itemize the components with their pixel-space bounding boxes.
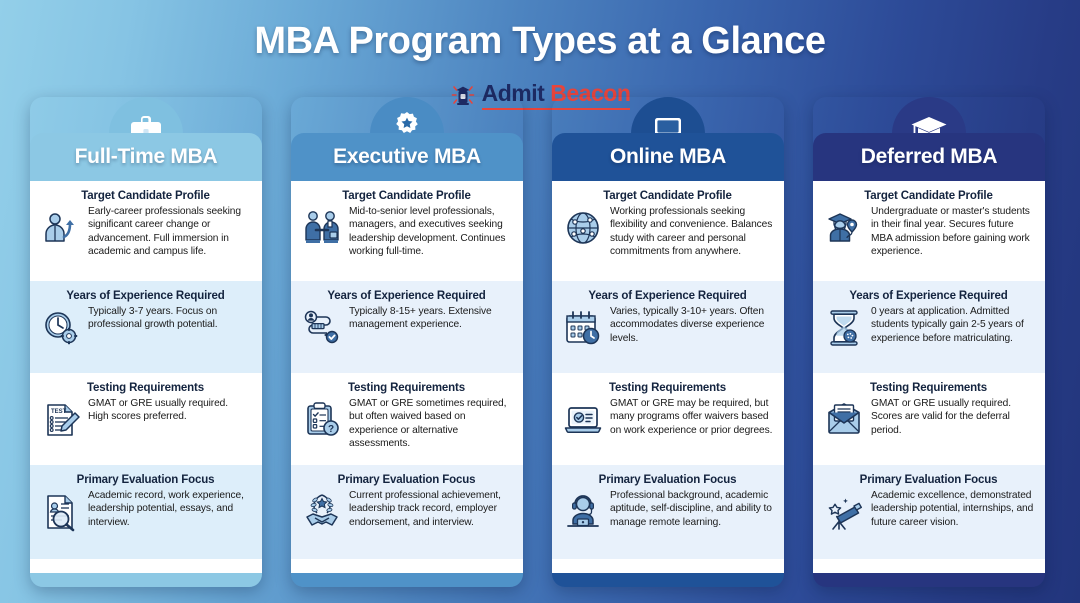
row-body: Mid-to-senior level professionals, manag… xyxy=(301,205,512,258)
row-title: Target Candidate Profile xyxy=(823,190,1034,202)
row-body: Varies, typically 3-10+ years. Often acc… xyxy=(562,305,773,349)
row-title: Years of Experience Required xyxy=(40,290,251,302)
row-body: ?GMAT or GRE sometimes required, but oft… xyxy=(301,397,512,450)
row-body: GMAT or GRE may be required, but many pr… xyxy=(562,397,773,441)
row-title: Testing Requirements xyxy=(823,382,1034,394)
row-text: Professional background, academic aptitu… xyxy=(610,489,773,529)
card-row: Years of Experience RequiredVaries, typi… xyxy=(552,281,784,373)
card-footer xyxy=(552,573,784,587)
graduate-student-pin-icon xyxy=(823,207,865,249)
row-title: Testing Requirements xyxy=(301,382,512,394)
card-footer xyxy=(813,573,1045,587)
card-body: Target Candidate ProfileMid-to-senior le… xyxy=(291,181,523,573)
row-text: Typically 8-15+ years. Extensive managem… xyxy=(349,305,512,332)
card-row: Years of Experience Required0 years at a… xyxy=(813,281,1045,373)
remote-learner-headset-icon xyxy=(562,491,604,533)
program-card: Executive MBATarget Candidate ProfileMid… xyxy=(291,97,523,587)
card-row: Target Candidate ProfileEarly-career pro… xyxy=(30,181,262,281)
card-row: Years of Experience RequiredTypically 3-… xyxy=(30,281,262,373)
card-header: Deferred MBA xyxy=(813,133,1045,181)
card-body: Target Candidate ProfileUndergraduate or… xyxy=(813,181,1045,573)
row-title: Primary Evaluation Focus xyxy=(823,474,1034,486)
card-row: Testing RequirementsGMAT or GRE may be r… xyxy=(552,373,784,465)
envelope-letter-icon xyxy=(823,399,865,441)
row-text: GMAT or GRE usually required. High score… xyxy=(88,397,251,424)
page-title: MBA Program Types at a Glance xyxy=(0,20,1080,63)
person-growth-arrow-icon xyxy=(40,207,82,249)
row-body: 0 years at application. Admitted student… xyxy=(823,305,1034,349)
hourglass-icon xyxy=(823,307,865,349)
career-path-check-icon xyxy=(301,307,343,349)
infographic-canvas: MBA Program Types at a Glance Admit xyxy=(0,0,1080,603)
row-body: TESTGMAT or GRE usually required. High s… xyxy=(40,397,251,441)
row-text: 0 years at application. Admitted student… xyxy=(871,305,1034,345)
row-text: Typically 3-7 years. Focus on profession… xyxy=(88,305,251,332)
telescope-star-icon xyxy=(823,491,865,533)
row-text: Varies, typically 3-10+ years. Often acc… xyxy=(610,305,773,345)
globe-network-icon xyxy=(562,207,604,249)
two-people-handshake-icon xyxy=(301,207,343,249)
row-text: Working professionals seeking flexibilit… xyxy=(610,205,773,258)
card-row: Testing Requirements?GMAT or GRE sometim… xyxy=(291,373,523,465)
row-body: Early-career professionals seeking signi… xyxy=(40,205,251,258)
card-row: Years of Experience RequiredTypically 8-… xyxy=(291,281,523,373)
row-title: Primary Evaluation Focus xyxy=(40,474,251,486)
program-card: Online MBATarget Candidate ProfileWorkin… xyxy=(552,97,784,587)
card-header: Online MBA xyxy=(552,133,784,181)
resume-magnifier-icon xyxy=(40,491,82,533)
card-row: Target Candidate ProfileMid-to-senior le… xyxy=(291,181,523,281)
test-paper-pencil-icon: TEST xyxy=(40,399,82,441)
row-body: Current professional achievement, leader… xyxy=(301,489,512,533)
row-text: GMAT or GRE usually required. Scores are… xyxy=(871,397,1034,437)
card-footer xyxy=(30,573,262,587)
row-title: Target Candidate Profile xyxy=(562,190,773,202)
row-text: Mid-to-senior level professionals, manag… xyxy=(349,205,512,258)
program-card: Full-Time MBATarget Candidate ProfileEar… xyxy=(30,97,262,587)
clock-gear-icon xyxy=(40,307,82,349)
row-text: Undergraduate or master's students in th… xyxy=(871,205,1034,258)
card-body: Target Candidate ProfileWorking professi… xyxy=(552,181,784,573)
row-text: Current professional achievement, leader… xyxy=(349,489,512,529)
row-body: Academic record, work experience, leader… xyxy=(40,489,251,533)
clipboard-question-icon: ? xyxy=(301,399,343,441)
card-row: Primary Evaluation FocusAcademic record,… xyxy=(30,465,262,559)
card-footer xyxy=(291,573,523,587)
card-row: Primary Evaluation FocusCurrent professi… xyxy=(291,465,523,559)
row-title: Testing Requirements xyxy=(562,382,773,394)
row-text: Academic excellence, demonstrated leader… xyxy=(871,489,1034,529)
row-body: Typically 8-15+ years. Extensive managem… xyxy=(301,305,512,349)
card-body: Target Candidate ProfileEarly-career pro… xyxy=(30,181,262,573)
row-title: Years of Experience Required xyxy=(823,290,1034,302)
card-row: Target Candidate ProfileUndergraduate or… xyxy=(813,181,1045,281)
row-title: Testing Requirements xyxy=(40,382,251,394)
row-body: Undergraduate or master's students in th… xyxy=(823,205,1034,258)
row-body: Professional background, academic aptitu… xyxy=(562,489,773,533)
card-row: Primary Evaluation FocusAcademic excelle… xyxy=(813,465,1045,559)
svg-text:?: ? xyxy=(328,424,334,435)
row-title: Years of Experience Required xyxy=(301,290,512,302)
card-row: Testing RequirementsTESTGMAT or GRE usua… xyxy=(30,373,262,465)
row-title: Target Candidate Profile xyxy=(40,190,251,202)
row-body: Working professionals seeking flexibilit… xyxy=(562,205,773,258)
program-card: Deferred MBATarget Candidate ProfileUnde… xyxy=(813,97,1045,587)
row-title: Years of Experience Required xyxy=(562,290,773,302)
row-title: Target Candidate Profile xyxy=(301,190,512,202)
row-text: GMAT or GRE may be required, but many pr… xyxy=(610,397,773,437)
card-row: Primary Evaluation FocusProfessional bac… xyxy=(552,465,784,559)
laurel-handshake-icon xyxy=(301,491,343,533)
row-text: Academic record, work experience, leader… xyxy=(88,489,251,529)
row-body: Typically 3-7 years. Focus on profession… xyxy=(40,305,251,349)
card-row: Testing RequirementsGMAT or GRE usually … xyxy=(813,373,1045,465)
row-text: Early-career professionals seeking signi… xyxy=(88,205,251,258)
row-title: Primary Evaluation Focus xyxy=(562,474,773,486)
row-text: GMAT or GRE sometimes required, but ofte… xyxy=(349,397,512,450)
card-header: Executive MBA xyxy=(291,133,523,181)
calendar-clock-icon xyxy=(562,307,604,349)
card-row: Target Candidate ProfileWorking professi… xyxy=(552,181,784,281)
card-header: Full-Time MBA xyxy=(30,133,262,181)
row-body: Academic excellence, demonstrated leader… xyxy=(823,489,1034,533)
program-card-grid: Full-Time MBATarget Candidate ProfileEar… xyxy=(30,97,1050,587)
svg-text:TEST: TEST xyxy=(51,409,67,415)
row-title: Primary Evaluation Focus xyxy=(301,474,512,486)
laptop-check-icon xyxy=(562,399,604,441)
row-body: GMAT or GRE usually required. Scores are… xyxy=(823,397,1034,441)
